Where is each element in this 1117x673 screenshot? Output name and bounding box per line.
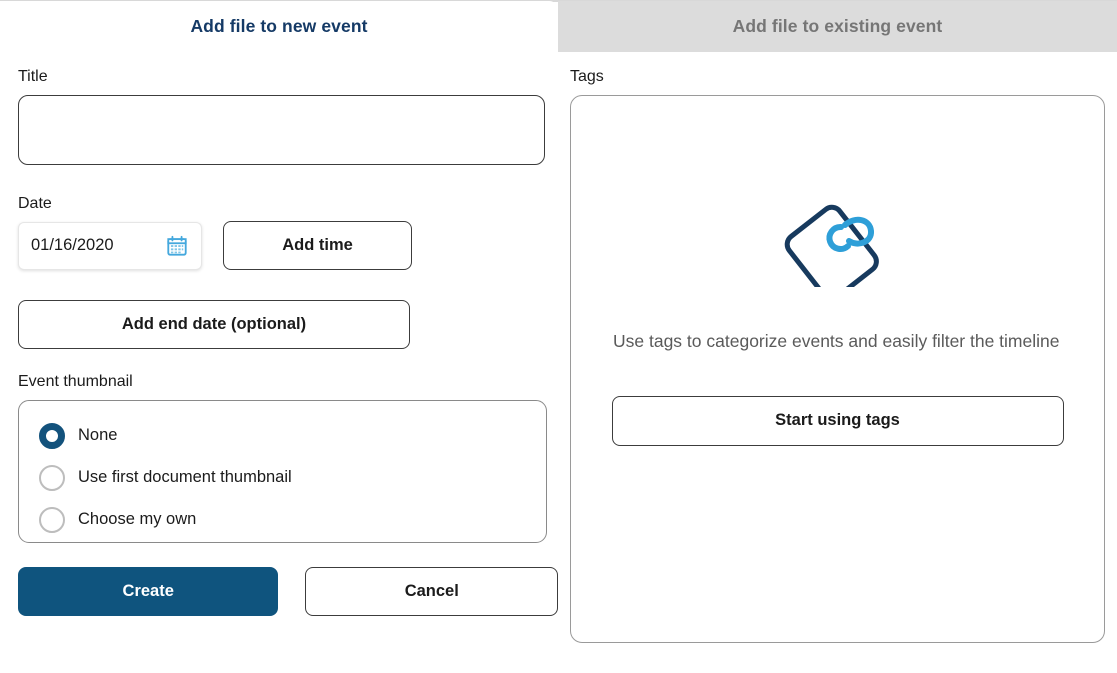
radio-icon-selected[interactable]: [39, 423, 65, 449]
date-value: 01/16/2020: [31, 236, 114, 255]
spacer-title-date: [18, 165, 558, 195]
calendar-icon[interactable]: [166, 235, 188, 257]
radio-label-none: None: [78, 426, 117, 445]
radio-label-use-first-document-thumbnail: Use first document thumbnail: [78, 468, 292, 487]
tags-empty-state-panel: Use tags to categorize events and easily…: [570, 95, 1105, 643]
date-input[interactable]: 01/16/2020: [18, 222, 202, 270]
form-actions: Create Cancel: [18, 567, 558, 616]
date-row: 01/16/2020: [18, 221, 558, 270]
spacer-enddate-thumb: [18, 349, 558, 373]
radio-icon-unselected[interactable]: [39, 465, 65, 491]
title-input[interactable]: [18, 95, 545, 165]
cancel-button[interactable]: Cancel: [305, 567, 558, 616]
radio-icon-unselected[interactable]: [39, 507, 65, 533]
event-thumbnail-options: None Use first document thumbnail Choose…: [18, 400, 547, 543]
tags-label: Tags: [570, 68, 1117, 86]
spacer-date-enddate: [18, 270, 558, 300]
start-using-tags-button[interactable]: Start using tags: [612, 396, 1064, 446]
create-button[interactable]: Create: [18, 567, 278, 616]
title-label: Title: [18, 68, 558, 86]
tab-bar: Add file to new event Add file to existi…: [0, 0, 1117, 52]
tag-icon: [783, 191, 893, 287]
event-thumbnail-label: Event thumbnail: [18, 373, 558, 391]
date-label: Date: [18, 195, 558, 213]
new-event-form: Title Date 01/16/2020: [0, 52, 558, 673]
radio-option-use-first-document-thumbnail[interactable]: Use first document thumbnail: [39, 457, 546, 499]
add-file-dialog: Add file to new event Add file to existi…: [0, 0, 1117, 673]
add-end-date-button[interactable]: Add end date (optional): [18, 300, 410, 349]
radio-option-none[interactable]: None: [39, 415, 546, 457]
radio-option-choose-my-own[interactable]: Choose my own: [39, 499, 546, 541]
add-time-button[interactable]: Add time: [223, 221, 412, 270]
tags-description: Use tags to categorize events and easily…: [613, 329, 1062, 354]
tags-section: Tags Use tags to categorize events and e…: [558, 52, 1117, 673]
tab-add-file-to-existing-event[interactable]: Add file to existing event: [558, 1, 1117, 52]
tab-add-file-to-new-event[interactable]: Add file to new event: [0, 1, 558, 52]
radio-label-choose-my-own: Choose my own: [78, 510, 196, 529]
